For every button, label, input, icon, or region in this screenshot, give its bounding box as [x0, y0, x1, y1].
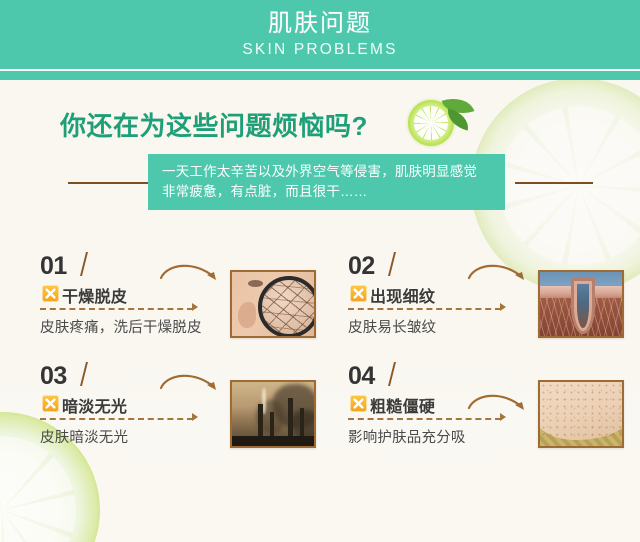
item-thumbnail: [538, 380, 624, 448]
item-title: 暗淡无光: [62, 393, 127, 417]
item-title: 出现细纹: [370, 283, 435, 307]
hero-rule-right: [515, 182, 593, 184]
number-slash-decoration: [80, 362, 88, 386]
item-dashed-divider: [348, 308, 501, 310]
item-subtitle: 皮肤疼痛，洗后干燥脱皮: [40, 316, 202, 337]
item-title: 干燥脱皮: [62, 283, 127, 307]
item-thumbnail: [230, 270, 316, 338]
hero-description-line-1: 一天工作太辛苦以及外界空气等侵害，肌肤明显感觉: [162, 162, 493, 182]
item-thumbnail: [538, 270, 624, 338]
header-title-cn: 肌肤问题: [268, 10, 372, 38]
skin-problems-page: 肌肤问题 SKIN PROBLEMS 你还在为这些问题烦恼吗? 一天工作太辛苦以…: [0, 0, 640, 542]
problem-item-04: 04 粗糙僵硬 影响护肤品充分吸: [348, 362, 640, 470]
item-number: 01: [40, 254, 67, 279]
x-mark-icon: [350, 395, 367, 412]
header-title-en: SKIN PROBLEMS: [242, 41, 397, 59]
hero-description-line-2: 非常疲惫，有点脏，而且很干……: [162, 182, 493, 202]
dashed-arrow-head-icon: [192, 413, 198, 421]
curved-arrow-icon: [158, 258, 226, 296]
number-slash-decoration: [80, 252, 88, 276]
dashed-arrow-head-icon: [192, 303, 198, 311]
header-accent-strip: [0, 71, 640, 80]
number-slash-decoration: [388, 252, 396, 276]
x-mark-icon: [42, 285, 59, 302]
problem-item-03: 03 暗淡无光 皮肤暗淡无光: [40, 362, 340, 470]
item-title: 粗糙僵硬: [370, 393, 435, 417]
number-slash-decoration: [388, 362, 396, 386]
curved-arrow-icon: [466, 258, 534, 296]
curved-arrow-icon: [158, 368, 226, 406]
problem-item-01: 01 干燥脱皮 皮肤疼痛，洗后干燥脱皮: [40, 252, 340, 360]
page-header: 肌肤问题 SKIN PROBLEMS: [0, 0, 640, 69]
x-mark-icon: [350, 285, 367, 302]
problem-item-02: 02 出现细纹 皮肤易长皱纹: [348, 252, 640, 360]
item-dashed-divider: [40, 418, 193, 420]
item-number: 03: [40, 364, 67, 389]
x-mark-icon: [42, 395, 59, 412]
dashed-arrow-head-icon: [500, 303, 506, 311]
hero-heading: 你还在为这些问题烦恼吗?: [60, 106, 368, 143]
hero-description-box: 一天工作太辛苦以及外界空气等侵害，肌肤明显感觉 非常疲惫，有点脏，而且很干……: [148, 154, 505, 210]
hero-rule-left: [68, 182, 152, 184]
item-number: 04: [348, 364, 375, 389]
curved-arrow-icon: [466, 388, 534, 426]
item-subtitle: 皮肤暗淡无光: [40, 426, 128, 447]
item-dashed-divider: [40, 308, 193, 310]
item-number: 02: [348, 254, 375, 279]
item-thumbnail: [230, 380, 316, 448]
item-subtitle: 影响护肤品充分吸: [348, 426, 466, 447]
item-subtitle: 皮肤易长皱纹: [348, 316, 436, 337]
